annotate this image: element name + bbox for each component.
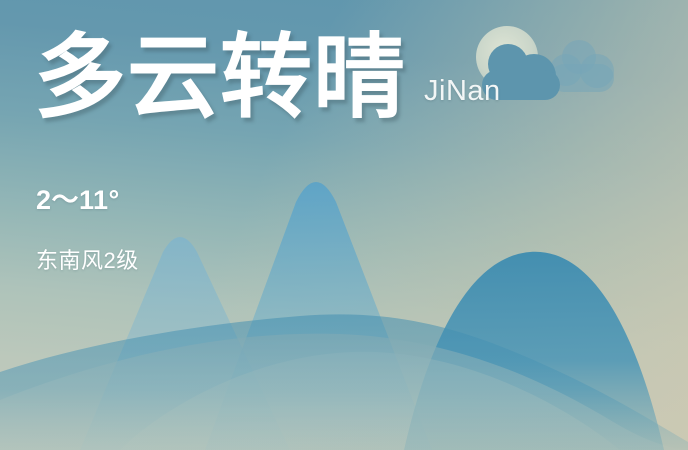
weather-info: 多云转晴 JiNan 2〜11° 东南风2级 [0, 0, 688, 450]
city-name-label: JiNan [424, 75, 501, 108]
wind-info-label: 东南风2级 [36, 243, 139, 275]
weather-card: 多云转晴 JiNan 2〜11° 东南风2级 [0, 0, 688, 450]
weather-condition-title: 多云转晴 [34, 32, 406, 124]
temperature-range-label: 2〜11° [36, 178, 120, 217]
condition-row: 多云转晴 JiNan [34, 32, 501, 124]
